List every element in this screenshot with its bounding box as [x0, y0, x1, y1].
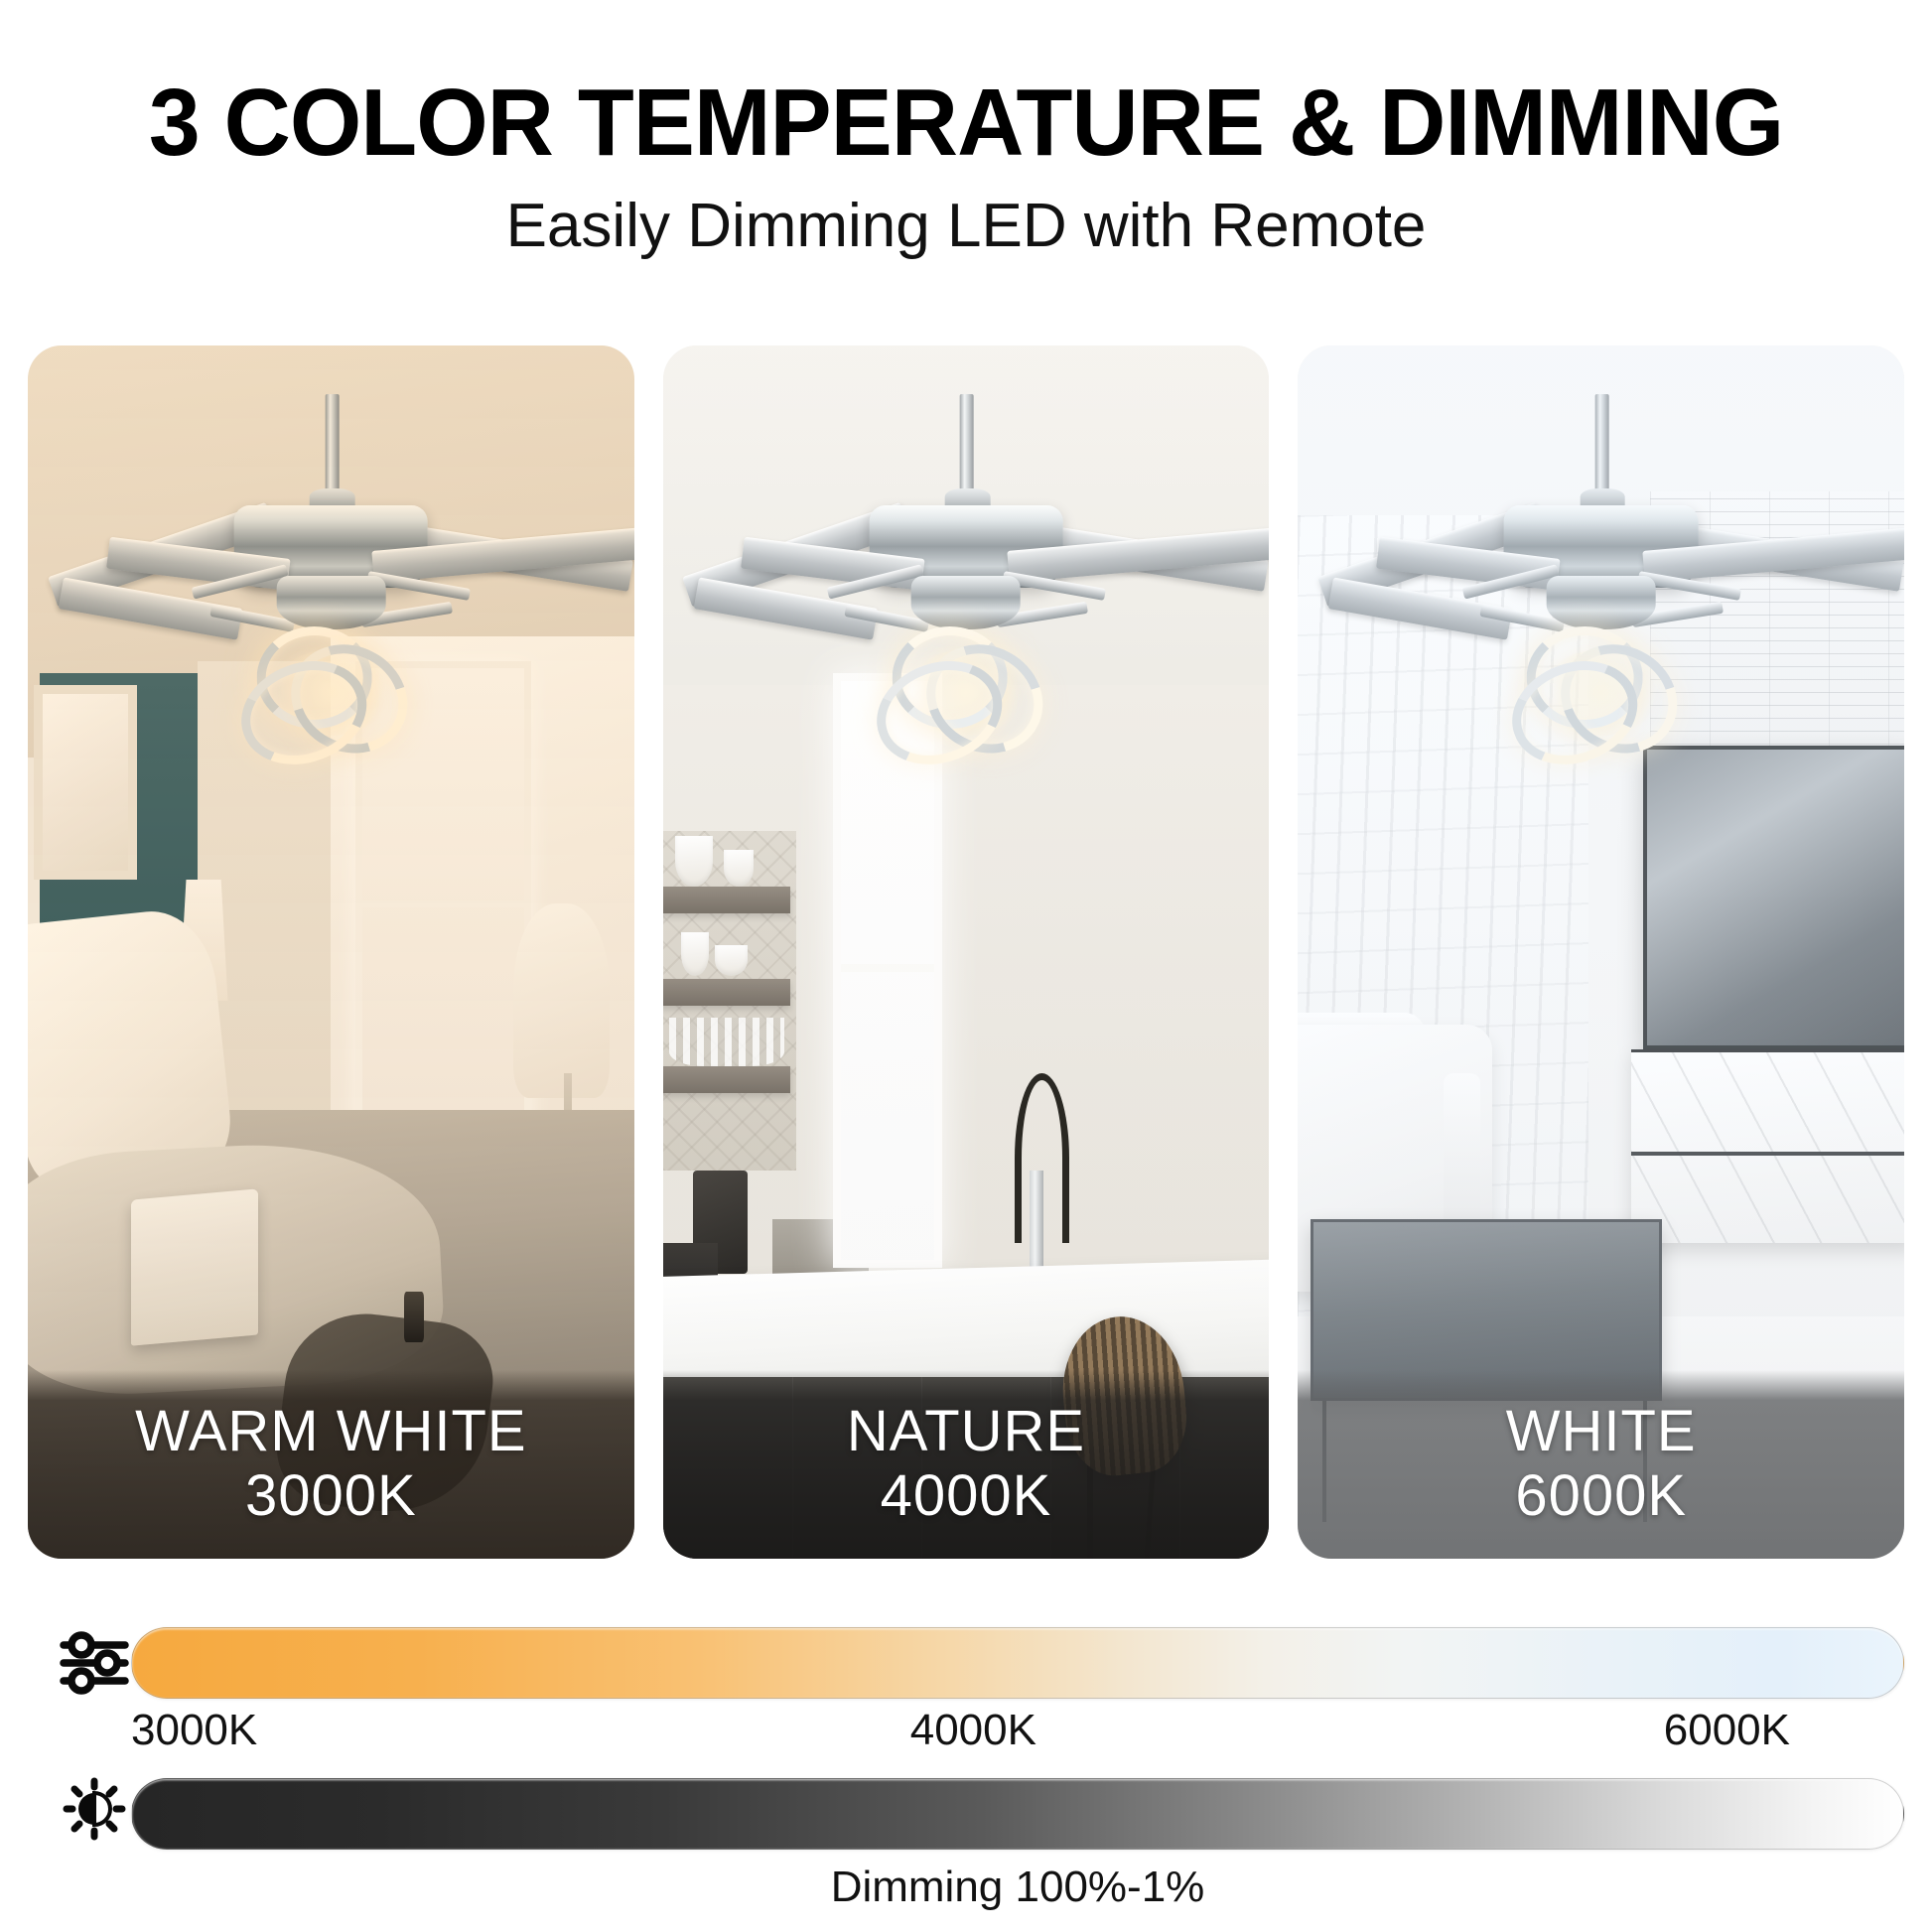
ceiling-fan-icon: [28, 394, 634, 806]
caption-kelvin: 4000K: [881, 1464, 1052, 1529]
header: 3 COLOR TEMPERATURE & DIMMING Easily Dim…: [0, 0, 1932, 261]
ceiling-fan-icon: [663, 394, 1270, 806]
panel-white[interactable]: WHITE 6000K: [1298, 345, 1904, 1559]
dimming-bar[interactable]: [131, 1778, 1904, 1850]
caption-name: NATURE: [847, 1400, 1085, 1464]
caption-kelvin: 3000K: [245, 1464, 417, 1529]
ceiling-fan-icon: [1298, 394, 1904, 806]
caption-name: WARM WHITE: [135, 1400, 526, 1464]
tick-6000k: 6000K: [1664, 1706, 1790, 1755]
color-temperature-bar[interactable]: [131, 1627, 1904, 1699]
page-title: 3 COLOR TEMPERATURE & DIMMING: [29, 71, 1903, 175]
panel-warm-white[interactable]: WARM WHITE 3000K: [28, 345, 634, 1559]
dimming-label: Dimming 100%-1%: [131, 1863, 1904, 1912]
caption-kelvin: 6000K: [1515, 1464, 1687, 1529]
panel-nature[interactable]: NATURE 4000K: [663, 345, 1270, 1559]
panel-caption-white: WHITE 6000K: [1298, 1370, 1904, 1559]
color-temperature-slider-block: 3000K 4000K 6000K: [0, 1626, 1932, 1771]
sliders-icon: [58, 1626, 131, 1700]
dimming-slider-block: Dimming 100%-1%: [0, 1777, 1932, 1912]
brightness-icon: [58, 1777, 131, 1851]
caption-name: WHITE: [1506, 1400, 1697, 1464]
color-temperature-panels: WARM WHITE 3000K: [28, 345, 1904, 1559]
panel-caption-warm-white: WARM WHITE 3000K: [28, 1370, 634, 1559]
tick-4000k: 4000K: [910, 1706, 1036, 1755]
panel-caption-nature: NATURE 4000K: [663, 1370, 1270, 1559]
tick-3000k: 3000K: [131, 1706, 257, 1755]
color-temperature-ticks: 3000K 4000K 6000K: [131, 1700, 1904, 1771]
page-subtitle: Easily Dimming LED with Remote: [0, 191, 1932, 261]
